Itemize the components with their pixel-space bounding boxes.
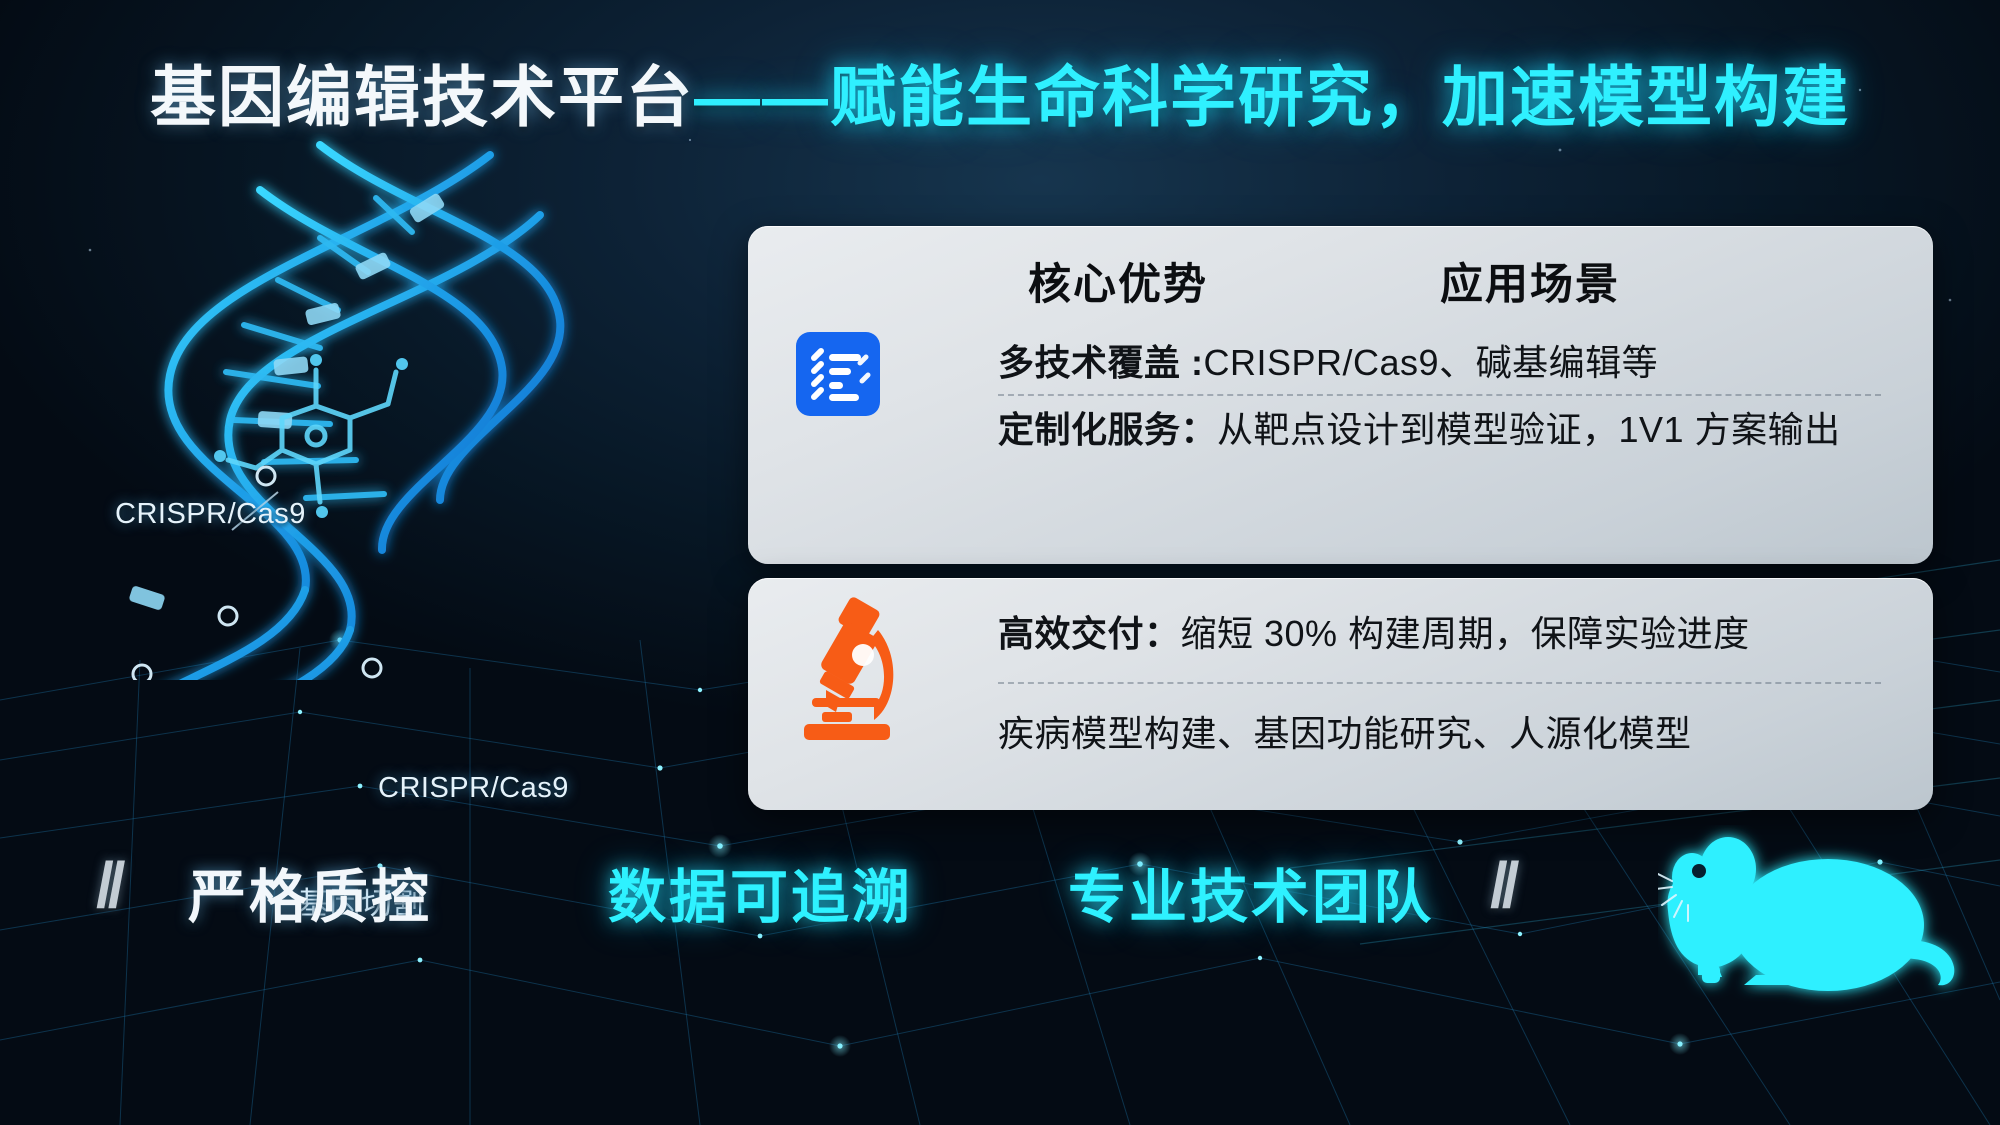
microscope-icon [790,594,900,744]
row-model-applications: 疾病模型构建、基因功能研究、人源化模型 [998,700,1899,762]
row-body-text: 缩短 30% 构建周期，保障实验进度 [1181,605,1750,657]
row-custom-service: 定制化服务：从靶点设计到模型验证，1V1 方案输出 [998,396,1899,458]
row-body-text: CRISPR/Cas9、碱基编辑等 [1204,334,1659,386]
row-body-text: 从靶点设计到模型验证，1V1 方案输出 [1217,401,1841,453]
dna-label-crispr-lower: CRISPR/Cas9 [378,772,569,805]
slide-canvas: 基因编辑技术平台——赋能生命科学研究，加速模型构建 [0,0,2000,1125]
dna-label-crispr-upper: CRISPR/Cas9 [115,498,306,531]
row-body-text: 疾病模型构建、基因功能研究、人源化模型 [998,705,1692,757]
tagline-strict-quality-control: 严格质控 [188,850,432,934]
lab-mouse-icon [1658,825,1978,1055]
card-row-divider [998,682,1881,684]
slash-decoration-left: // [96,848,120,922]
header-application-scenarios: 应用场景 [1440,250,1620,312]
tagline-data-traceable: 数据可追溯 [608,850,913,934]
tagline-professional-team: 专业技术团队 [1068,850,1434,934]
dna-double-helix-graphic [20,120,640,680]
title-cyan-segment: ——赋能生命科学研究，加速模型构建 [694,60,1850,134]
document-list-icon [796,332,880,416]
row-lead-label: 高效交付： [998,605,1181,657]
row-lead-label: 多技术覆盖 : [998,334,1204,386]
row-lead-label: 定制化服务： [998,401,1217,453]
slash-decoration-right: // [1490,848,1514,922]
row-multi-technology: 多技术覆盖 :CRISPR/Cas9、碱基编辑等 [998,329,1899,391]
core-advantages-card[interactable]: 核心优势 应用场景 [748,226,1933,564]
dna-helix-illustration: CRISPR/Cas9 CRISPR/Cas9 基因切割 [20,120,640,680]
application-scenarios-card[interactable]: 高效交付： 缩短 30% 构建周期，保障实验进度 疾病模型构建、基因功能研究、人… [748,578,1933,810]
row-efficient-delivery: 高效交付： 缩短 30% 构建周期，保障实验进度 [998,600,1899,662]
header-core-advantages: 核心优势 [1028,250,1208,312]
card-header-row: 核心优势 应用场景 [748,226,1933,334]
